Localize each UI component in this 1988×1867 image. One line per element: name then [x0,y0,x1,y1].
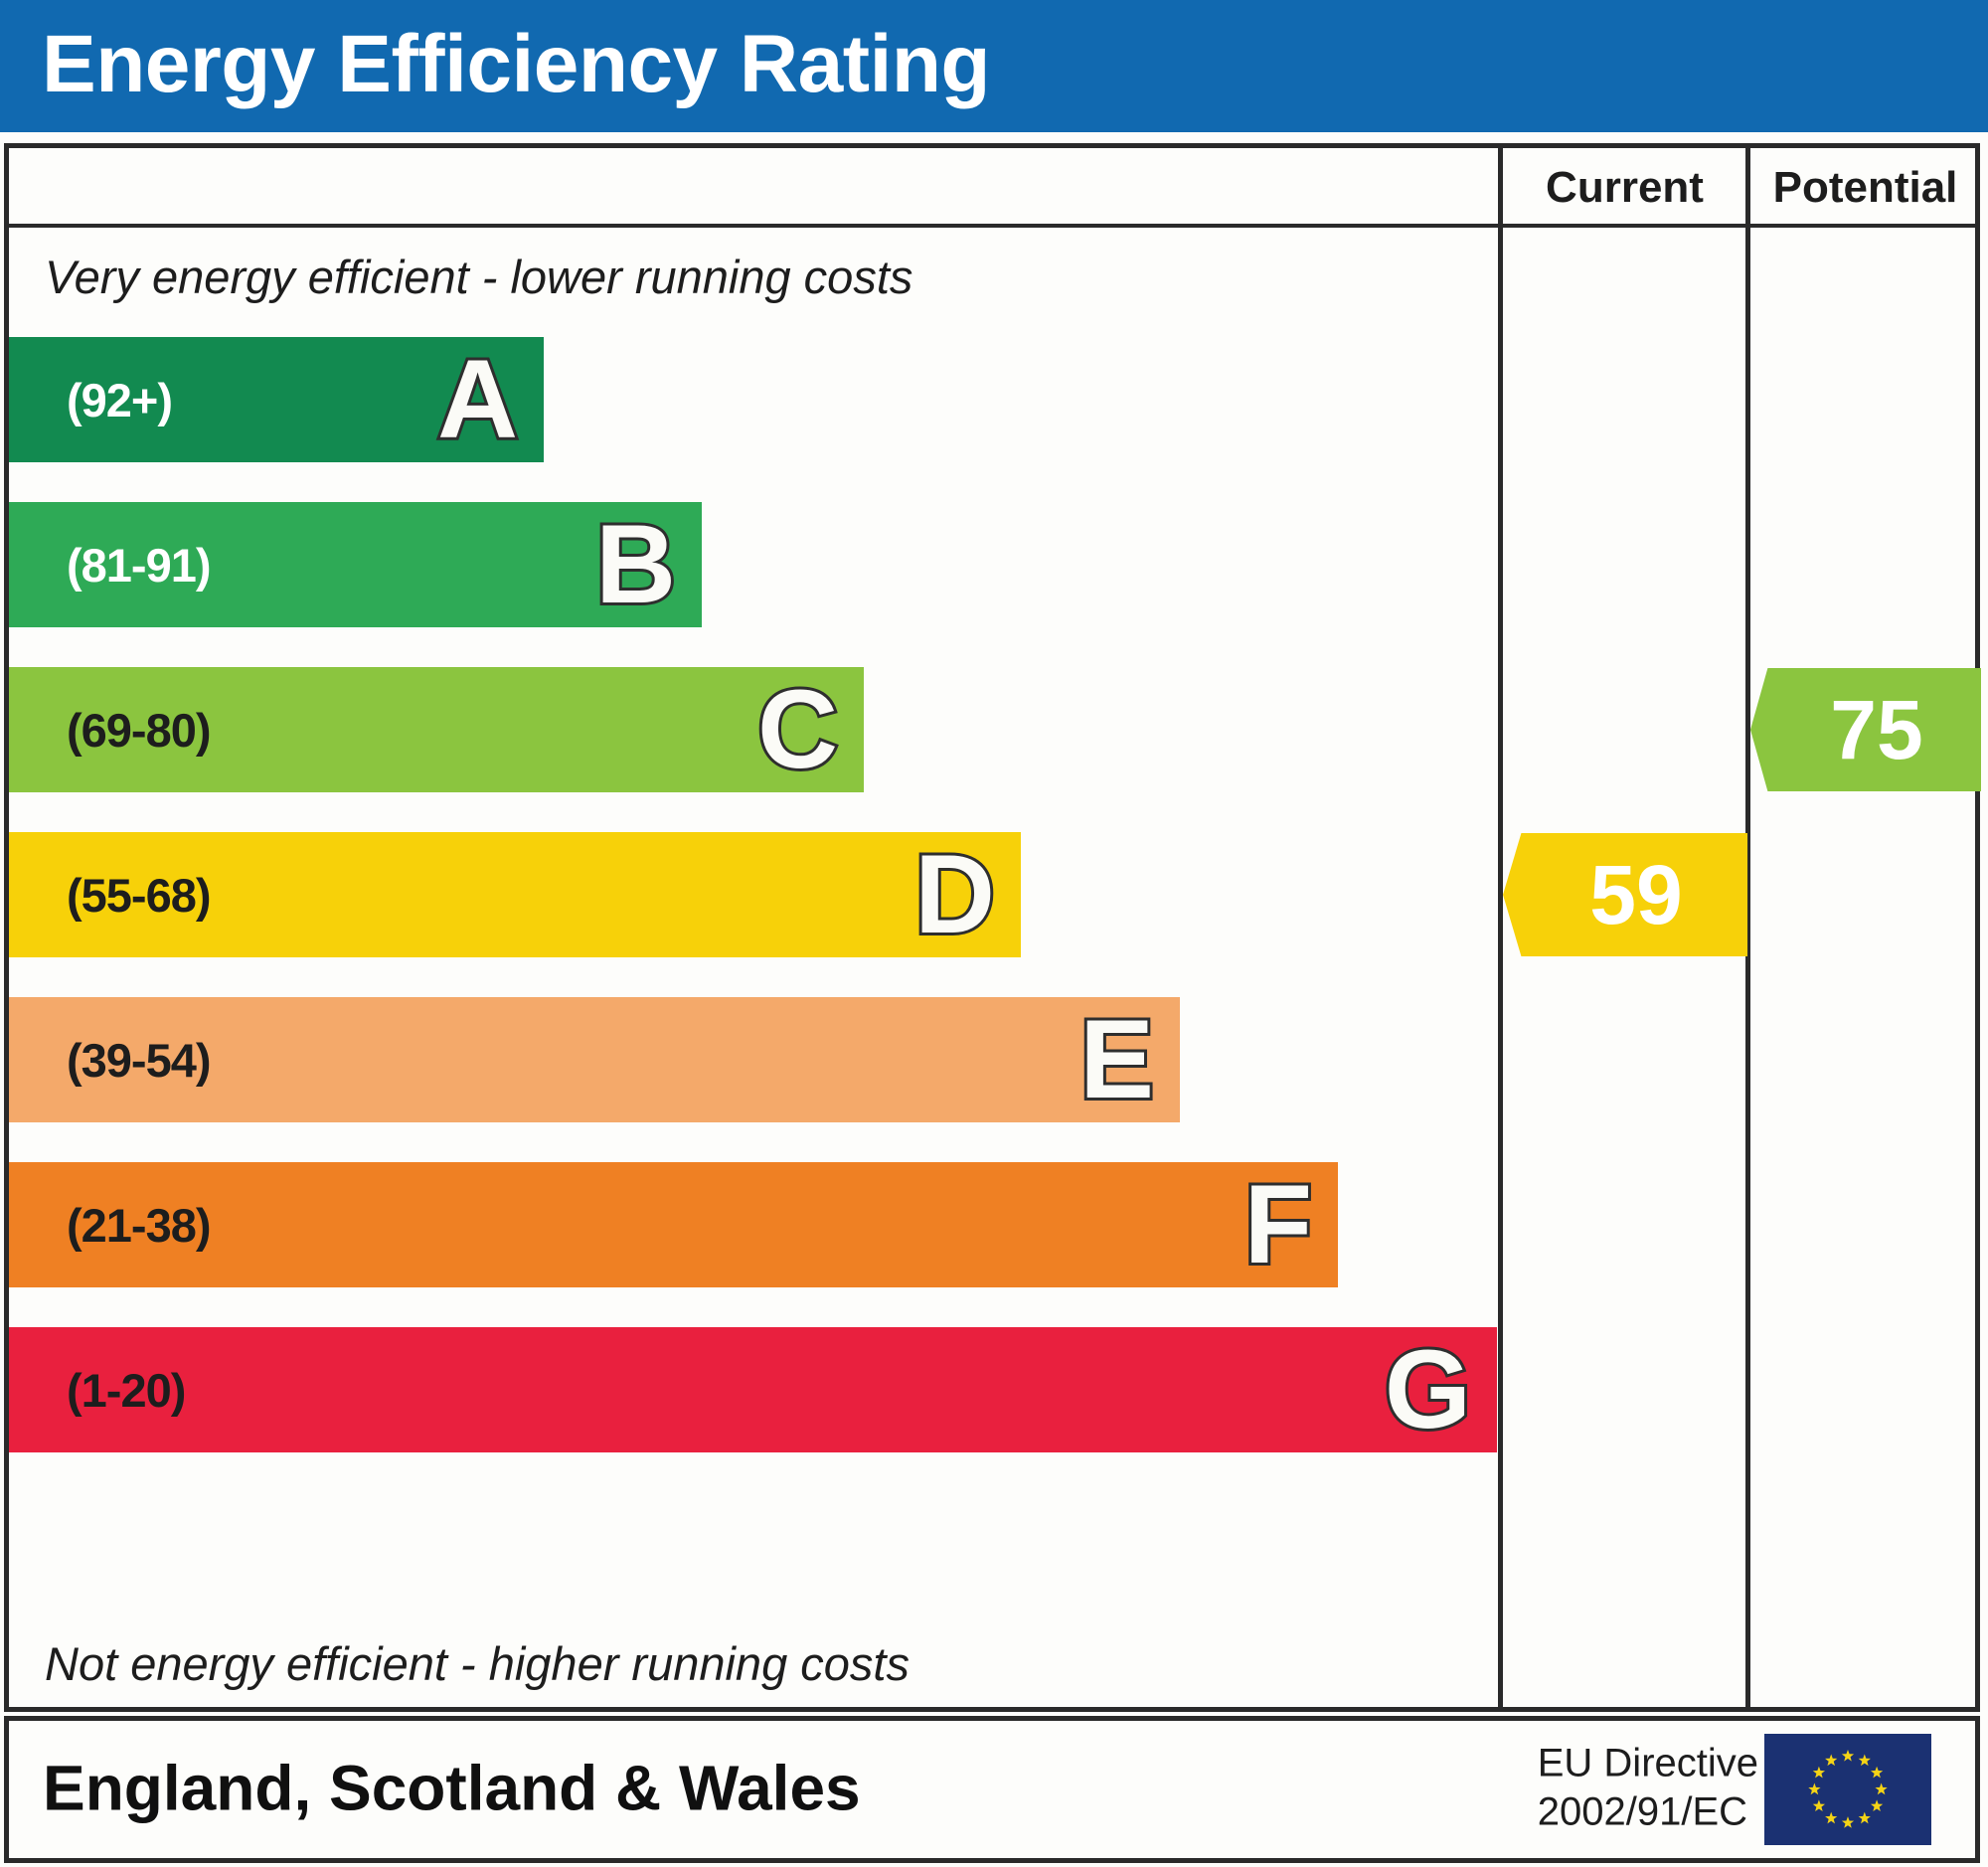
band-range-b: (81-91) [67,538,211,593]
caption-efficient: Very energy efficient - lower running co… [45,250,912,304]
band-range-f: (21-38) [67,1198,211,1253]
eu-flag-icon [1764,1734,1931,1845]
directive-line-2: 2002/91/EC [1538,1787,1758,1836]
band-letter-f: F [1244,1169,1312,1280]
band-range-c: (69-80) [67,703,211,758]
band-bar-e: (39-54)E [9,997,1180,1122]
title-bar: Energy Efficiency Rating [0,0,1988,132]
footer-directive-label: EU Directive 2002/91/EC [1538,1739,1758,1836]
band-bar-f: (21-38)F [9,1162,1338,1287]
band-range-g: (1-20) [67,1363,185,1418]
rating-scale: Very energy efficient - lower running co… [9,228,1498,1707]
current-rating-value: 59 [1568,853,1682,936]
band-letter-a: A [437,344,518,455]
band-range-e: (39-54) [67,1033,211,1088]
band-letter-b: B [595,509,676,620]
rating-table: Current Potential Very energy efficient … [4,143,1980,1712]
band-letter-c: C [757,674,838,785]
footer: England, Scotland & Wales EU Directive 2… [4,1716,1980,1863]
caption-inefficient: Not energy efficient - higher running co… [45,1636,910,1691]
directive-line-1: EU Directive [1538,1739,1758,1787]
band-bar-c: (69-80)C [9,667,864,792]
potential-rating-value: 75 [1808,688,1922,771]
band-range-a: (92+) [67,373,172,427]
current-rating-marker: 59 [1503,833,1747,956]
energy-efficiency-rating-chart: Energy Efficiency Rating Current Potenti… [0,0,1988,1867]
potential-rating-marker: 75 [1750,668,1981,791]
column-header-current: Current [1503,148,1746,228]
band-letter-e: E [1079,1004,1154,1115]
divider-scale-current [1498,148,1503,1707]
column-header-potential: Potential [1750,148,1980,228]
band-bar-d: (55-68)D [9,832,1021,957]
footer-region-label: England, Scotland & Wales [43,1752,861,1825]
page-title: Energy Efficiency Rating [42,18,990,111]
band-bar-a: (92+)A [9,337,544,462]
band-bar-b: (81-91)B [9,502,702,627]
band-bar-g: (1-20)G [9,1327,1497,1452]
band-letter-d: D [914,839,995,950]
band-range-d: (55-68) [67,868,211,923]
band-letter-g: G [1385,1334,1471,1445]
